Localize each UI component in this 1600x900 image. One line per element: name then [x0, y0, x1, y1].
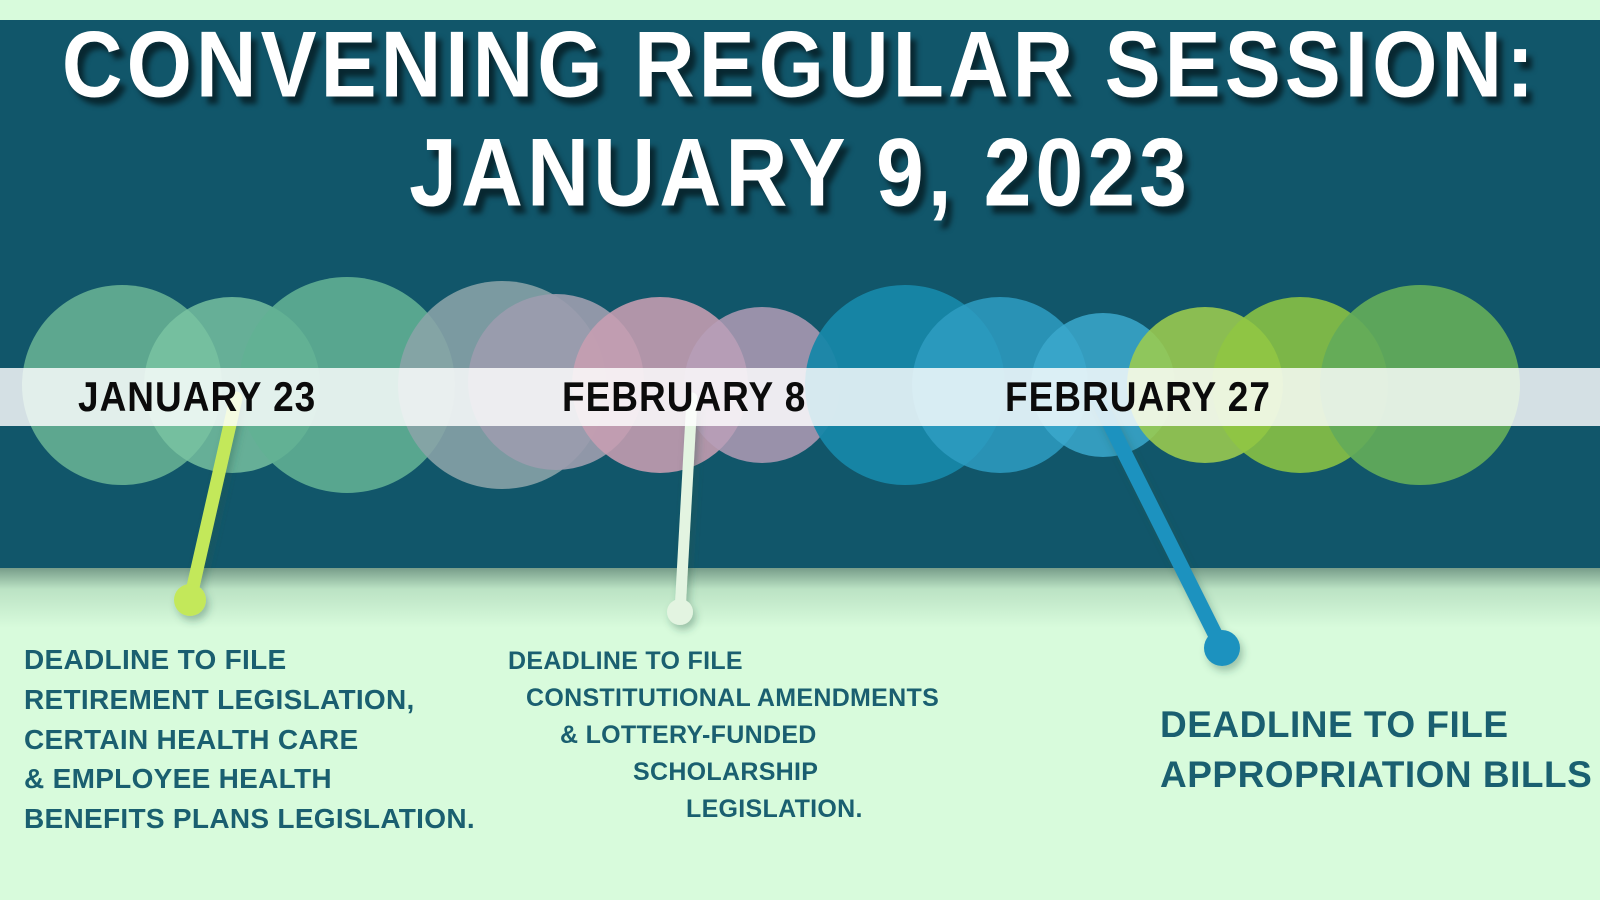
note-line: CONSTITUTIONAL AMENDMENTS	[526, 680, 939, 717]
note-january-23: DEADLINE TO FILE RETIREMENT LEGISLATION,…	[24, 640, 475, 839]
timeline-date-january-23: JANUARY 23	[78, 374, 316, 421]
note-line: LEGISLATION.	[686, 791, 939, 828]
connector-february-27-line	[1097, 398, 1222, 648]
connector-january-23	[174, 398, 236, 616]
connector-january-23-line	[190, 398, 236, 600]
connector-january-23-dot	[174, 584, 206, 616]
note-line: DEADLINE TO FILE	[1160, 700, 1592, 750]
note-line: & EMPLOYEE HEALTH	[24, 759, 475, 799]
note-february-8: DEADLINE TO FILE CONSTITUTIONAL AMENDMEN…	[508, 643, 939, 828]
note-february-27: DEADLINE TO FILE APPROPRIATION BILLS	[1160, 700, 1592, 799]
connector-february-27-dot	[1204, 630, 1240, 666]
note-line: CERTAIN HEALTH CARE	[24, 720, 475, 760]
note-line: & LOTTERY-FUNDED	[560, 717, 939, 754]
timeline-date-february-8: FEBRUARY 8	[562, 374, 806, 421]
infographic-canvas: CONVENING REGULAR SESSION: JANUARY 9, 20…	[0, 0, 1600, 900]
connector-february-8-line	[680, 398, 692, 612]
note-line: DEADLINE TO FILE	[24, 640, 475, 680]
connector-february-8-dot	[667, 599, 693, 625]
connector-february-8	[667, 398, 693, 625]
page-title: CONVENING REGULAR SESSION: JANUARY 9, 20…	[0, 18, 1600, 211]
note-line: RETIREMENT LEGISLATION,	[24, 680, 475, 720]
page-title-line-2: JANUARY 9, 2023	[0, 126, 1600, 220]
timeline-date-february-27: FEBRUARY 27	[1005, 374, 1271, 421]
note-line: APPROPRIATION BILLS	[1160, 750, 1592, 800]
note-line: BENEFITS PLANS LEGISLATION.	[24, 799, 475, 839]
connector-february-27	[1097, 398, 1240, 666]
page-title-line-1: CONVENING REGULAR SESSION:	[0, 18, 1600, 110]
note-line: SCHOLARSHIP	[633, 754, 939, 791]
note-line: DEADLINE TO FILE	[508, 643, 939, 680]
